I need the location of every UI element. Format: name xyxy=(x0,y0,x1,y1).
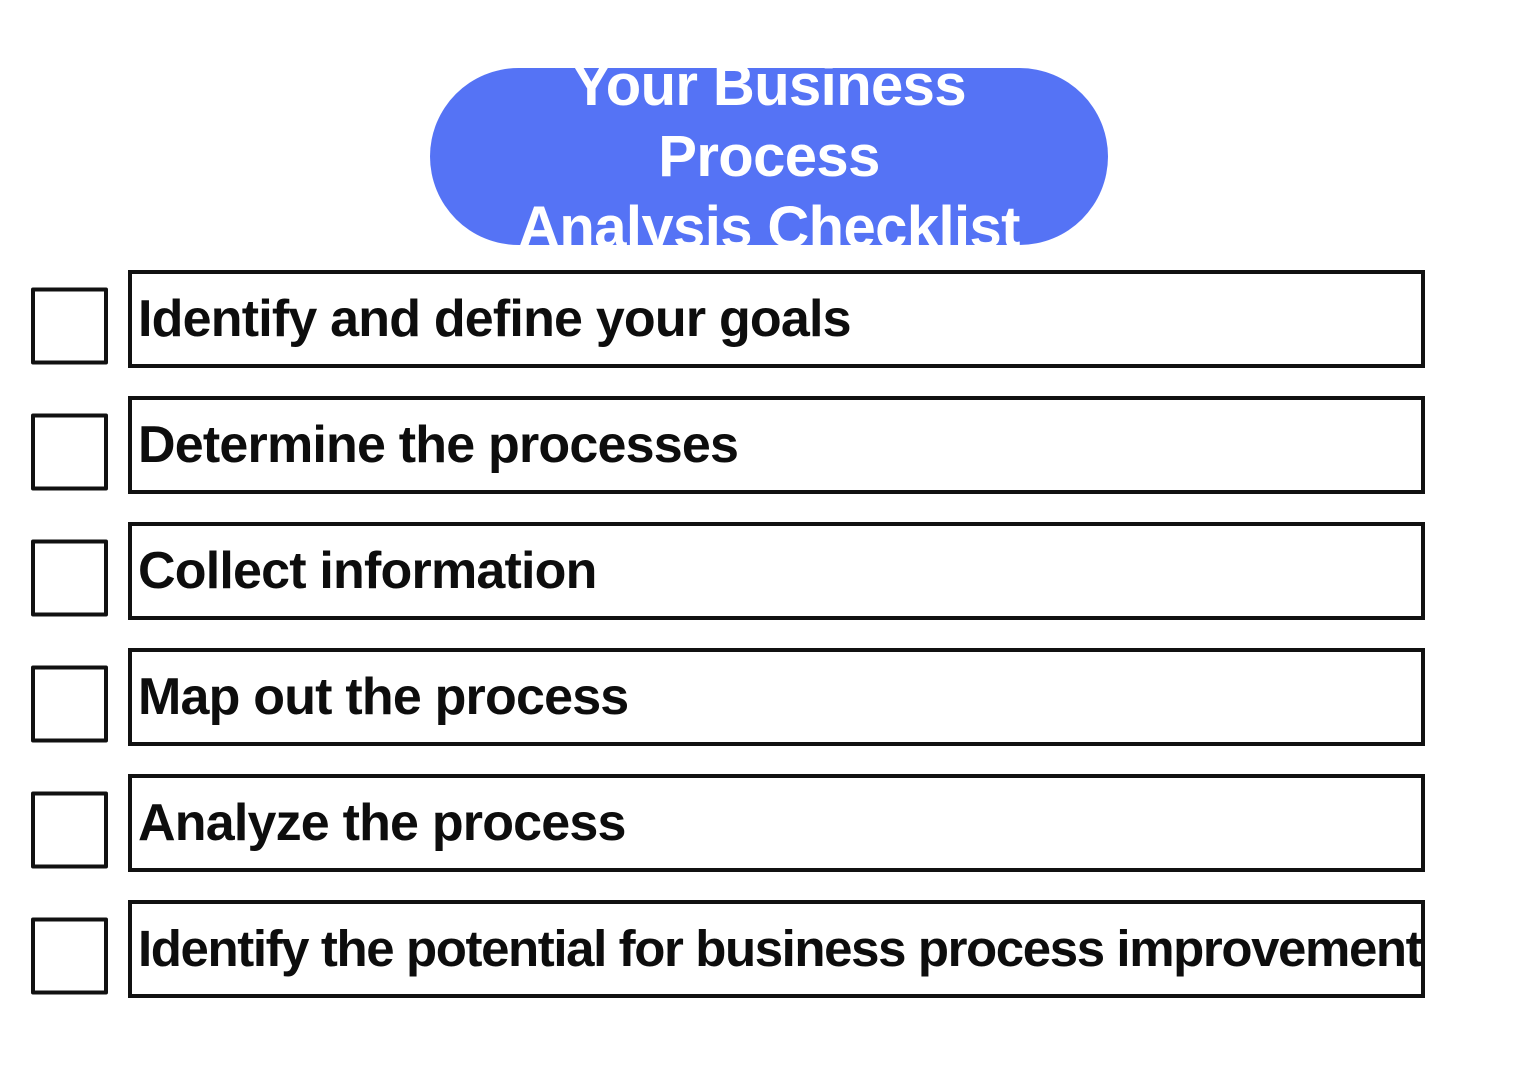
checkbox-item-5[interactable] xyxy=(31,792,108,869)
checkbox-item-6[interactable] xyxy=(31,918,108,995)
checklist: Identify and define your goals Determine… xyxy=(0,270,1536,1012)
label-box-item-4: Map out the process xyxy=(128,648,1425,746)
label-box-item-1: Identify and define your goals xyxy=(128,270,1425,368)
list-item-label: Map out the process xyxy=(132,670,628,725)
list-item-label: Identify and define your goals xyxy=(132,292,851,347)
list-item: Identify and define your goals xyxy=(0,270,1536,382)
list-item: Determine the processes xyxy=(0,396,1536,508)
list-item-label: Identify the potential for business proc… xyxy=(132,922,1421,976)
label-box-item-3: Collect information xyxy=(128,522,1425,620)
label-box-item-6: Identify the potential for business proc… xyxy=(128,900,1425,998)
checkbox-item-3[interactable] xyxy=(31,540,108,617)
checklist-poster: Your Business Process Analysis Checklist… xyxy=(0,0,1536,1086)
list-item: Analyze the process xyxy=(0,774,1536,886)
list-item: Collect information xyxy=(0,522,1536,634)
title-pill: Your Business Process Analysis Checklist xyxy=(430,68,1108,245)
page-title: Your Business Process Analysis Checklist xyxy=(466,50,1072,264)
list-item-label: Collect information xyxy=(132,544,597,599)
list-item-label: Analyze the process xyxy=(132,796,626,851)
checkbox-item-2[interactable] xyxy=(31,414,108,491)
label-box-item-5: Analyze the process xyxy=(128,774,1425,872)
checkbox-item-4[interactable] xyxy=(31,666,108,743)
list-item: Map out the process xyxy=(0,648,1536,760)
list-item-label: Determine the processes xyxy=(132,418,738,473)
label-box-item-2: Determine the processes xyxy=(128,396,1425,494)
list-item: Identify the potential for business proc… xyxy=(0,900,1536,1012)
checkbox-item-1[interactable] xyxy=(31,288,108,365)
